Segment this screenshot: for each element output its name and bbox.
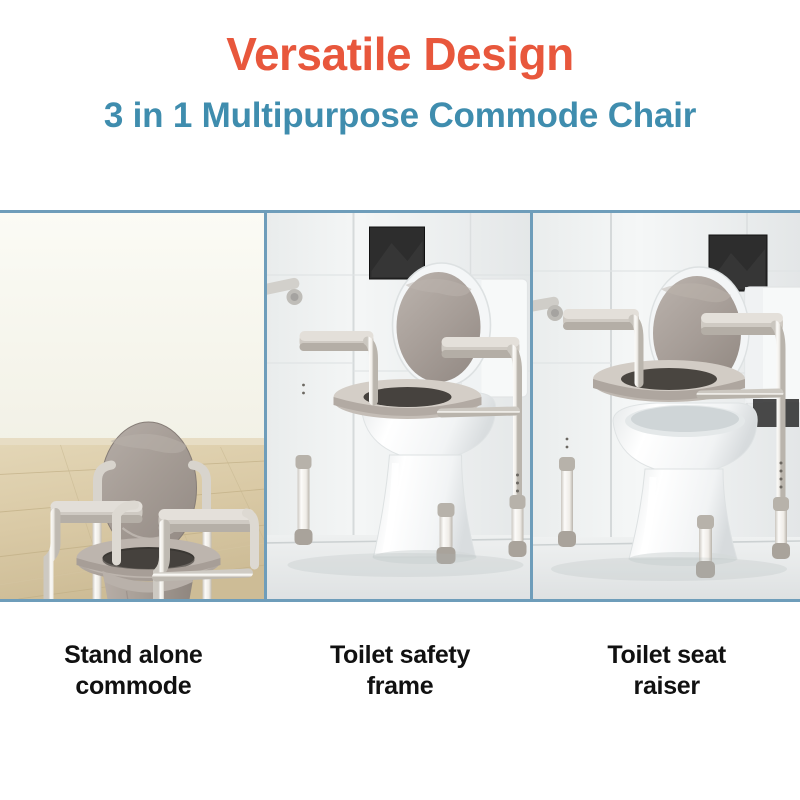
stand-alone-commode-photo [0,213,264,599]
panel-toilet-seat-raiser [533,213,800,599]
caption-line-2: raiser [533,671,800,702]
toilet-safety-frame-photo [267,213,530,599]
caption-toilet-safety-frame: Toilet safety frame [267,640,534,750]
header-block: Versatile Design 3 in 1 Multipurpose Com… [0,0,800,200]
caption-line-1: Toilet seat [533,640,800,671]
panel-stand-alone-commode [0,213,267,599]
caption-row: Stand alone commode Toilet safety frame … [0,640,800,750]
product-image-strip [0,210,800,602]
commode-armrest-right [159,509,255,532]
panel-toilet-safety-frame [267,213,533,599]
caption-line-1: Toilet safety [267,640,534,671]
caption-line-2: frame [267,671,534,702]
caption-line-1: Stand alone [0,640,267,671]
caption-toilet-seat-raiser: Toilet seat raiser [533,640,800,750]
page-title: Versatile Design [0,28,800,80]
page-subtitle: 3 in 1 Multipurpose Commode Chair [0,96,800,136]
caption-stand-alone-commode: Stand alone commode [0,640,267,750]
infographic-page: Versatile Design 3 in 1 Multipurpose Com… [0,0,800,800]
caption-line-2: commode [0,671,267,702]
frame-armrest-left [563,309,639,330]
frame-armrest-left [300,331,374,351]
toilet-seat-raiser-photo [533,213,800,599]
